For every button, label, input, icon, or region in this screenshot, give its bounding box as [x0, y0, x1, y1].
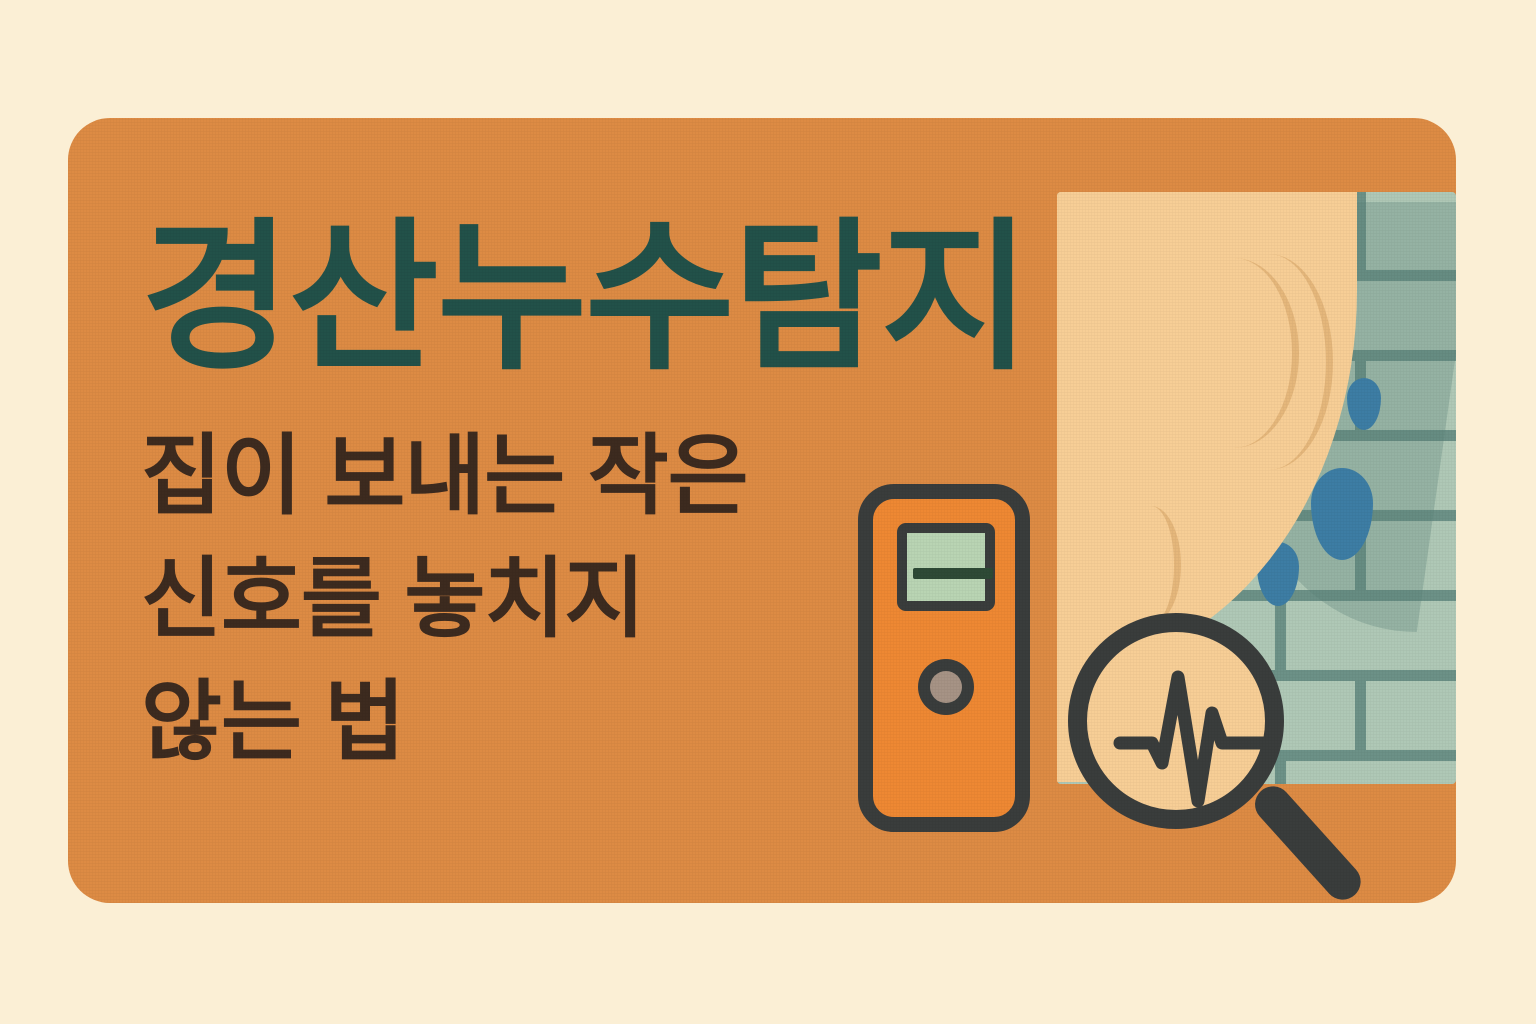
- subtitle-line-2: 신호를 놓치지: [141, 537, 961, 660]
- magnifier-icon: [1068, 613, 1368, 903]
- leak-detector-device: [858, 484, 1030, 832]
- screen-reading-line: [913, 568, 993, 579]
- headline-block: 경산누수탐지 집이 보내는 작은 신호를 놓치지 않는 법: [141, 218, 961, 783]
- magnifier-lens: [1068, 613, 1284, 829]
- hero-card: 경산누수탐지 집이 보내는 작은 신호를 놓치지 않는 법: [68, 118, 1456, 903]
- subtitle-line-1: 집이 보내는 작은: [141, 414, 961, 537]
- waveform-icon: [1106, 651, 1284, 829]
- device-screen: [897, 523, 995, 611]
- subtitle-line-3: 않는 법: [141, 660, 961, 783]
- device-button-core: [930, 671, 962, 703]
- device-button: [918, 659, 974, 715]
- curtain-crease: [1205, 254, 1333, 470]
- subtitle: 집이 보내는 작은 신호를 놓치지 않는 법: [141, 414, 961, 784]
- page-title: 경산누수탐지: [141, 218, 961, 378]
- curtain-crease: [1121, 506, 1181, 624]
